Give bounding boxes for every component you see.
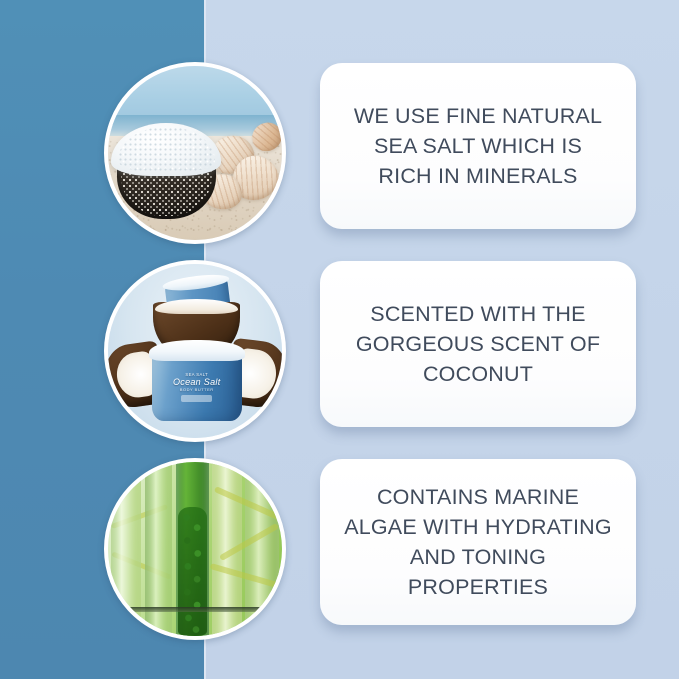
feature-text-coconut: SCENTED WITH THE GORGEOUS SCENT OF COCON… xyxy=(356,299,600,389)
feature-text-marine-algae: CONTAINS MARINE ALGAE WITH HYDRATING AND… xyxy=(344,482,612,602)
feature-row-coconut: SEA SALT Ocean Salt BODY BUTTER SCENTED … xyxy=(0,258,679,448)
jar-subtitle-text: BODY BUTTER xyxy=(152,387,242,392)
feature-row-sea-salt: WE USE FINE NATURAL SEA SALT WHICH IS RI… xyxy=(0,60,679,250)
jar-brand-text: SEA SALT xyxy=(152,372,242,377)
feature-image-marine-algae xyxy=(104,458,286,640)
feature-card-coconut: SCENTED WITH THE GORGEOUS SCENT OF COCON… xyxy=(320,261,636,427)
jar-lid xyxy=(149,340,245,361)
body-butter-jar: SEA SALT Ocean Salt BODY BUTTER xyxy=(152,351,242,421)
jar-product-name: Ocean Salt xyxy=(152,377,242,387)
feature-image-sea-salt xyxy=(104,62,286,244)
tube-support-rail xyxy=(108,607,282,612)
algae-photo-scene xyxy=(108,462,282,636)
marine-algae-strand xyxy=(178,507,208,636)
jar-label: SEA SALT Ocean Salt BODY BUTTER xyxy=(152,372,242,402)
jar-badge xyxy=(181,395,212,402)
feature-text-sea-salt: WE USE FINE NATURAL SEA SALT WHICH IS RI… xyxy=(354,101,602,191)
feature-card-sea-salt: WE USE FINE NATURAL SEA SALT WHICH IS RI… xyxy=(320,63,636,229)
coconut-photo-scene: SEA SALT Ocean Salt BODY BUTTER xyxy=(108,264,282,438)
feature-row-marine-algae: CONTAINS MARINE ALGAE WITH HYDRATING AND… xyxy=(0,456,679,646)
infographic-canvas: WE USE FINE NATURAL SEA SALT WHICH IS RI… xyxy=(0,0,679,679)
feature-image-coconut: SEA SALT Ocean Salt BODY BUTTER xyxy=(104,260,286,442)
feature-card-marine-algae: CONTAINS MARINE ALGAE WITH HYDRATING AND… xyxy=(320,459,636,625)
sea-salt-photo-scene xyxy=(108,66,282,240)
